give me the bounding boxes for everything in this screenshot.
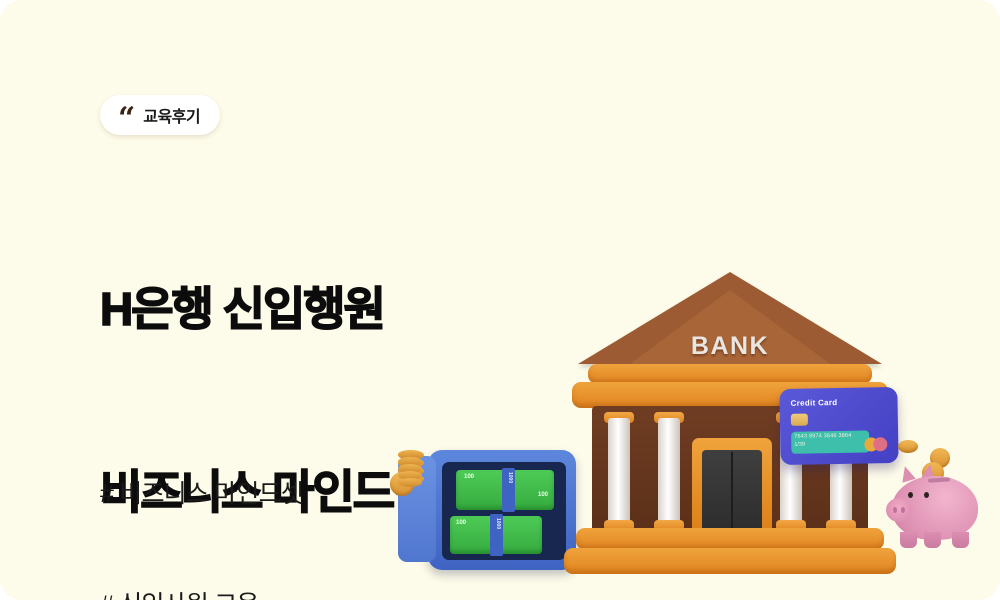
credit-card-expiry: 1/39 [794, 442, 805, 448]
cash-band-value-2: 1000 [495, 518, 501, 529]
bank-step-lower [564, 548, 896, 574]
hashtag-item-1: # 비즈니스 마인드셋 [100, 476, 303, 513]
credit-card-chip-icon [791, 414, 808, 426]
hashtag-list: # 비즈니스 마인드셋 # 신입사원 교육 [100, 402, 303, 600]
credit-card-label: Credit Card [791, 398, 838, 408]
bank-door-divider [731, 452, 733, 530]
piggy-leg-1 [900, 532, 917, 548]
banknote-value-3: 100 [456, 520, 466, 526]
banknote-value-1: 100 [464, 474, 474, 480]
piggy-nostril-left [893, 507, 897, 513]
quote-mark-icon: “ [118, 104, 134, 134]
piggy-leg-3 [952, 532, 969, 548]
cash-band-lower: 1000 [490, 514, 503, 556]
floating-coin-1 [898, 440, 918, 453]
piggy-nostril-right [901, 507, 905, 513]
piggy-snout [886, 498, 912, 522]
piggy-eye-left [908, 492, 913, 498]
credit-card-number-strip: 7643 8974 3646 3864 1/39 [791, 430, 869, 453]
hashtag-item-2: # 신입사원 교육 [100, 587, 303, 600]
piggy-leg-2 [924, 532, 941, 548]
bank-column-2 [654, 410, 684, 532]
piggy-bank-illustration [880, 440, 990, 560]
piggy-eye-right [924, 492, 929, 498]
category-badge: “ 교육후기 [100, 95, 220, 135]
safe-box-illustration: 100 100 1000 100 1000 [398, 450, 578, 575]
cash-band-upper: 1000 [502, 468, 515, 512]
finance-illustration: 100 100 1000 100 1000 [380, 250, 1000, 590]
bank-sign-text: BANK [570, 332, 890, 361]
banknote-value-2: 100 [538, 492, 548, 498]
cash-band-value-1: 1000 [507, 472, 513, 483]
bank-cornice [588, 364, 872, 384]
credit-card-number: 7643 8974 3646 3864 [794, 433, 851, 440]
category-badge-label: 교육후기 [143, 103, 200, 127]
bank-step-upper [576, 528, 884, 550]
promo-card: “ 교육후기 H은행 신입행원 비즈니스 마인드셋 교육 # 비즈니스 마인드셋… [0, 0, 1000, 600]
bank-column-1 [604, 410, 634, 532]
